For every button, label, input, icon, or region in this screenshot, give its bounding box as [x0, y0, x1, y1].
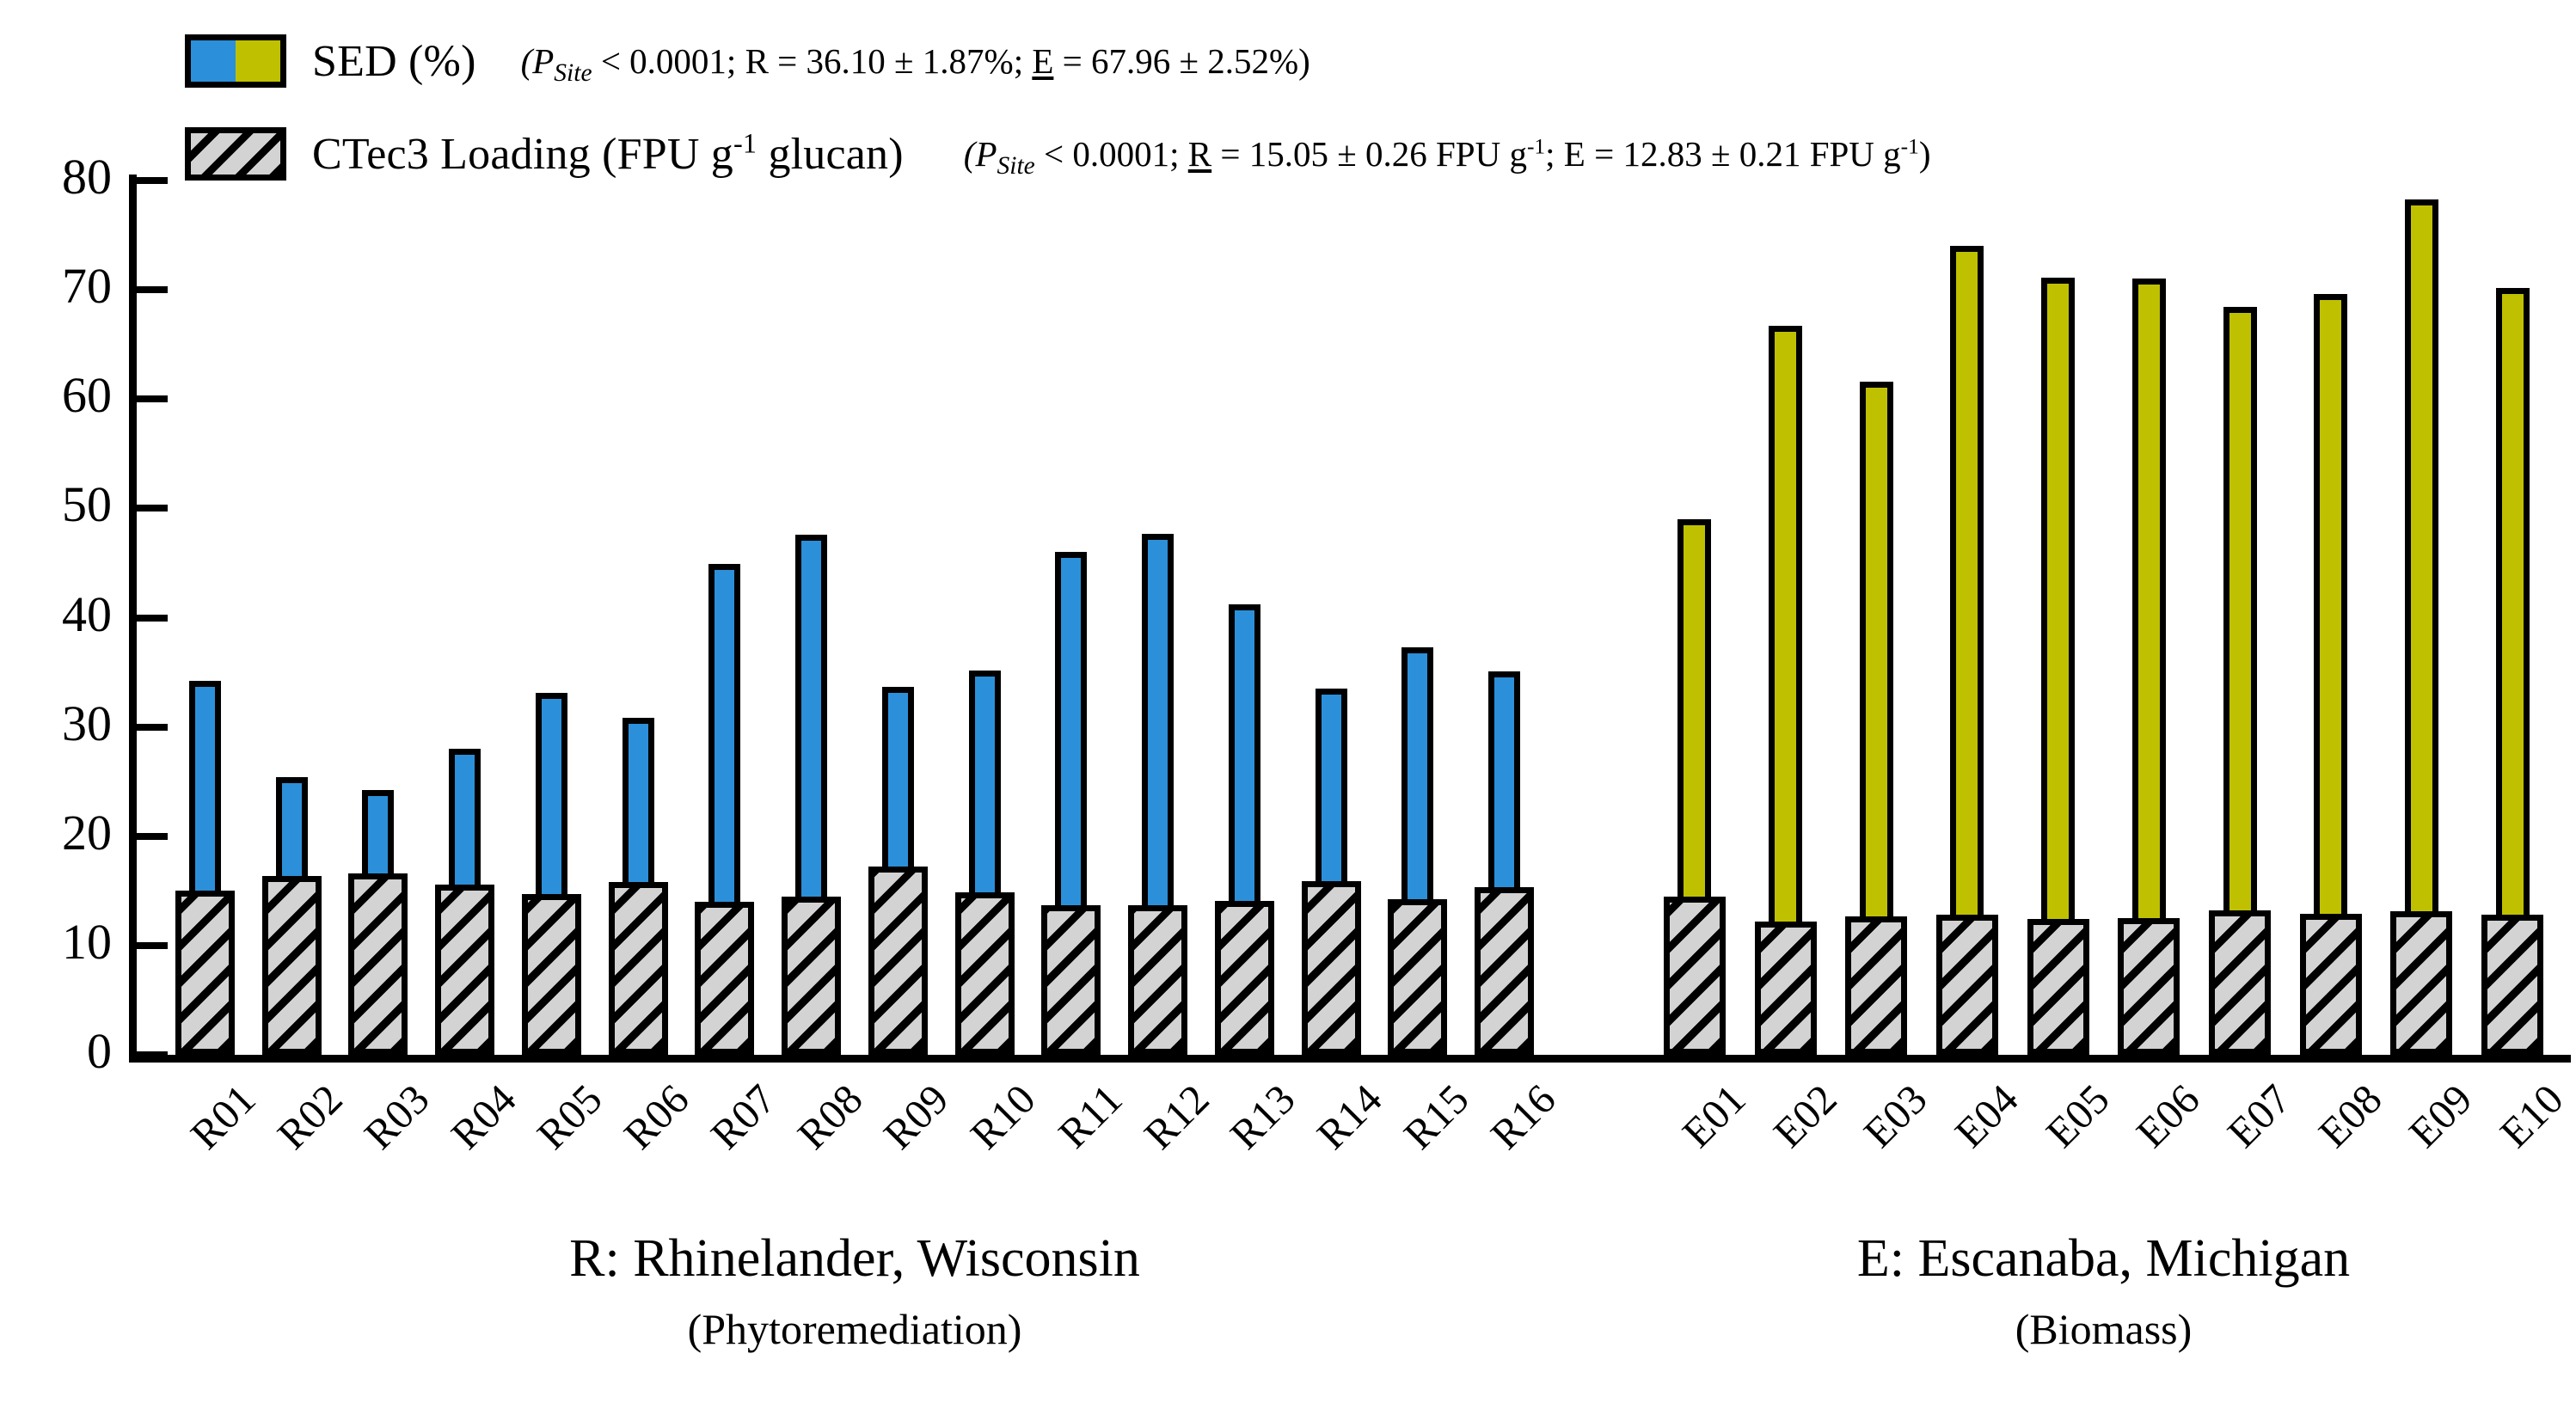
bar-ctec3-loading [1936, 915, 1998, 1055]
legend-stats-sed: (PSite < 0.0001; R = 36.10 ± 1.87%; E = … [521, 40, 1310, 82]
chart-figure: SED (%) (PSite < 0.0001; R = 36.10 ± 1.8… [0, 0, 2576, 1415]
legend-stats-loading-r: R [1188, 134, 1211, 174]
bar-ctec3-loading [782, 897, 841, 1055]
bar-ctec3-loading [1041, 905, 1101, 1055]
y-tick-label: 10 [0, 917, 112, 967]
bar-ctec3-loading [868, 867, 928, 1055]
legend-stats-sed-p: P [532, 41, 554, 81]
y-axis-line [129, 175, 137, 1061]
group-caption-rhinelander-main: R: Rhinelander, Wisconsin [33, 1229, 1677, 1289]
bar-ctec3-loading [1302, 881, 1361, 1055]
legend-stats-loading-close: ) [1919, 134, 1931, 174]
bar-ctec3-loading [1215, 901, 1274, 1055]
x-axis-line [129, 1055, 2571, 1063]
legend-label-loading: CTec3 Loading (FPU g-1 glucan) [312, 129, 904, 180]
legend-stats-sed-e: E [1032, 41, 1053, 81]
legend-stats-loading-rrest: = 15.05 ± 0.26 FPU g [1211, 134, 1527, 174]
bar-ctec3-loading [1755, 922, 1817, 1055]
y-tick-label: 0 [0, 1026, 112, 1076]
bar-ctec3-loading [2027, 919, 2089, 1055]
y-tick-label: 30 [0, 699, 112, 749]
bar-ctec3-loading [1388, 899, 1447, 1055]
y-tick-mark [137, 615, 168, 622]
legend-stats-loading-psub: Site [997, 152, 1034, 180]
group-caption-escanaba-main: E: Escanaba, Michigan [1520, 1229, 2576, 1289]
bar-ctec3-loading [955, 892, 1015, 1055]
y-tick-mark [137, 724, 168, 731]
bar-ctec3-loading [1664, 897, 1726, 1055]
legend-swatch-blue-half [191, 40, 236, 82]
legend-stats-loading-p: P [975, 134, 997, 174]
bar-ctec3-loading [2390, 911, 2452, 1055]
bar-ctec3-loading [348, 873, 408, 1055]
legend-swatch-sed [185, 34, 286, 88]
y-tick-label: 70 [0, 261, 112, 311]
y-tick-mark [137, 395, 168, 402]
y-tick-mark [137, 177, 168, 184]
y-tick-label: 20 [0, 808, 112, 858]
bar-ctec3-loading [695, 902, 754, 1055]
legend-label-sed: SED (%) [312, 36, 476, 87]
bar-ctec3-loading [2118, 918, 2180, 1055]
bar-ctec3-loading [2300, 914, 2362, 1055]
y-tick-mark [137, 505, 168, 511]
legend-label-loading-sup: -1 [733, 127, 757, 158]
y-tick-mark [137, 286, 168, 293]
legend-stats-loading-open: ( [964, 134, 976, 174]
legend-swatch-olive-half [236, 40, 280, 82]
legend-entry-loading: CTec3 Loading (FPU g-1 glucan) (PSite < … [185, 127, 1931, 181]
y-tick-label: 50 [0, 480, 112, 530]
legend-stats-loading-mid: < 0.0001; [1035, 134, 1188, 174]
bar-ctec3-loading [522, 894, 581, 1055]
bar-ctec3-loading [175, 891, 235, 1055]
y-tick-label: 40 [0, 590, 112, 640]
bar-ctec3-loading [1128, 905, 1187, 1055]
y-tick-mark [137, 942, 168, 949]
bar-ctec3-loading [1845, 916, 1907, 1055]
legend-entry-sed: SED (%) (PSite < 0.0001; R = 36.10 ± 1.8… [185, 34, 1310, 88]
y-tick-mark [137, 1051, 168, 1058]
bar-ctec3-loading [1475, 887, 1534, 1055]
y-tick-label: 80 [0, 152, 112, 202]
group-caption-rhinelander: R: Rhinelander, Wisconsin (Phytoremediat… [33, 1229, 1677, 1357]
legend-stats-loading-sep: ; E = 12.83 ± 0.21 FPU g [1545, 134, 1901, 174]
legend-stats-loading-sup2: -1 [1901, 134, 1919, 158]
bar-ctec3-loading [262, 876, 322, 1055]
legend-stats-sed-rest: < 0.0001; R = 36.10 ± 1.87%; [592, 41, 1033, 81]
group-caption-rhinelander-sub: (Phytoremediation) [33, 1302, 1677, 1357]
bar-ctec3-loading [2481, 915, 2543, 1055]
legend-label-loading-b: glucan) [757, 130, 904, 179]
bar-ctec3-loading [609, 882, 668, 1055]
legend-stats-loading: (PSite < 0.0001; R = 15.05 ± 0.26 FPU g-… [964, 133, 1931, 175]
legend-stats-sed-psub: Site [554, 59, 592, 87]
bar-ctec3-loading [2209, 910, 2271, 1055]
bar-ctec3-loading [435, 885, 494, 1055]
legend-label-loading-a: CTec3 Loading (FPU g [312, 130, 733, 179]
group-caption-escanaba: E: Escanaba, Michigan (Biomass) [1520, 1229, 2576, 1357]
y-tick-label: 60 [0, 371, 112, 420]
legend-stats-sed-tail: = 67.96 ± 2.52%) [1053, 41, 1309, 81]
group-caption-escanaba-sub: (Biomass) [1520, 1302, 2576, 1357]
legend-stats-sed-open: ( [521, 41, 533, 81]
legend-stats-loading-sup1: -1 [1527, 134, 1545, 158]
y-tick-mark [137, 833, 168, 840]
legend-swatch-hatch [185, 127, 286, 181]
